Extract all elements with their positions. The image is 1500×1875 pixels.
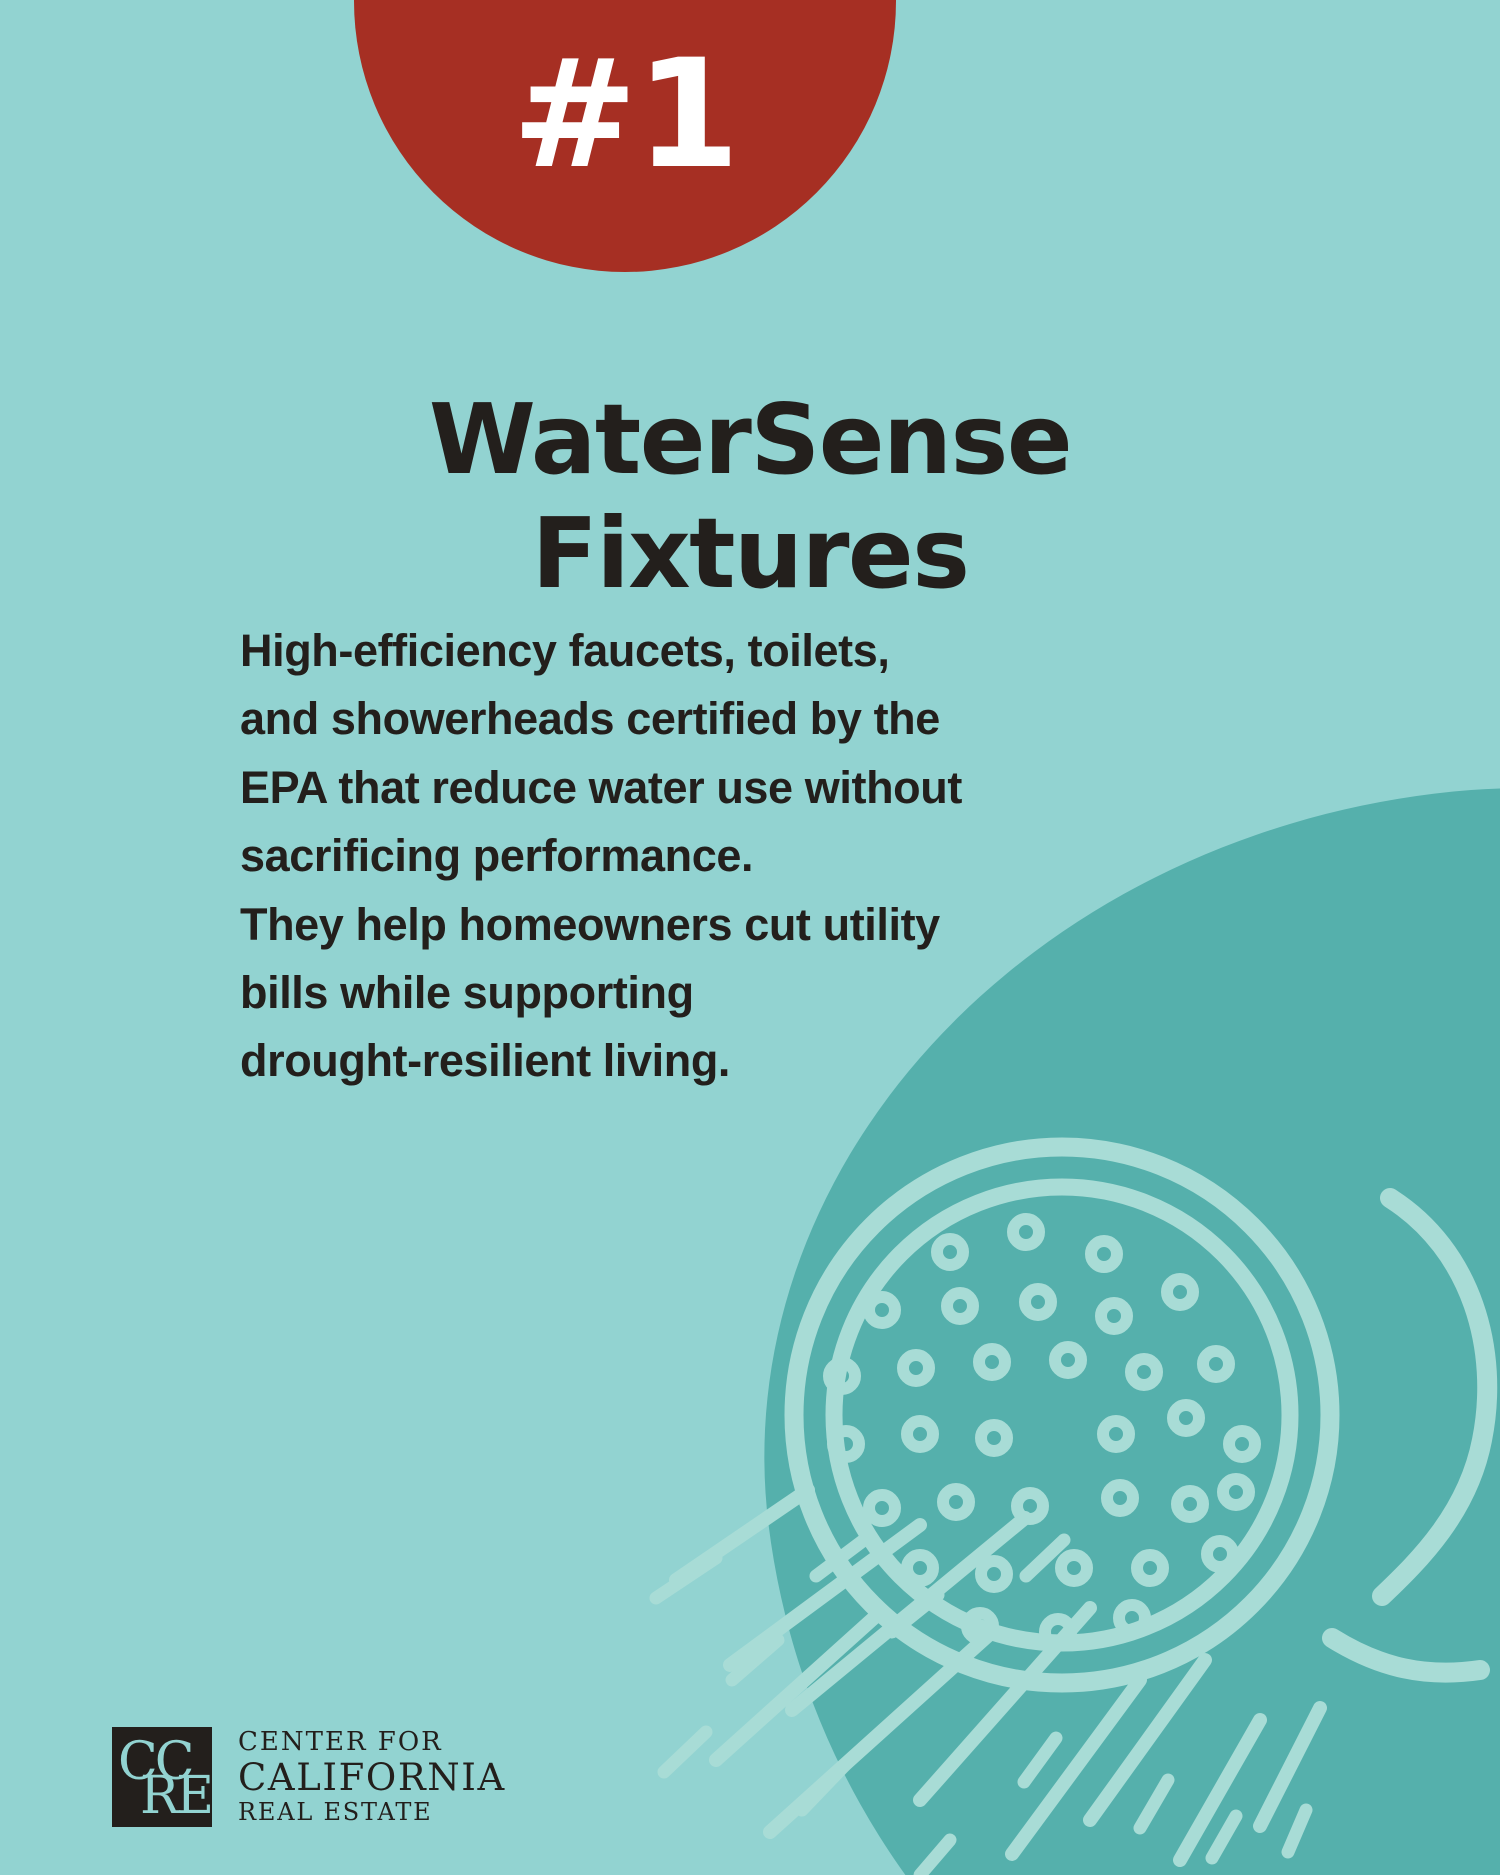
brand-logo: CC RE CENTER FOR CALIFORNIA REAL ESTATE [112,1727,506,1827]
body-paragraph: High-efficiency faucets, toilets, and sh… [240,617,1040,1096]
logo-line-california: CALIFORNIA [238,1757,506,1798]
page-title: WaterSense Fixtures [0,383,1500,612]
logo-line-real-estate: REAL ESTATE [238,1799,506,1826]
logo-line-center-for: CENTER FOR [238,1728,506,1757]
logo-monogram-mark: CC RE [112,1727,212,1827]
rank-badge-label: #1 [354,40,896,190]
poster-canvas: #1 WaterSense Fixtures High-efficiency f… [0,0,1500,1875]
logo-wordmark: CENTER FOR CALIFORNIA REAL ESTATE [238,1728,506,1825]
logo-monogram-re: RE [140,1770,211,1822]
